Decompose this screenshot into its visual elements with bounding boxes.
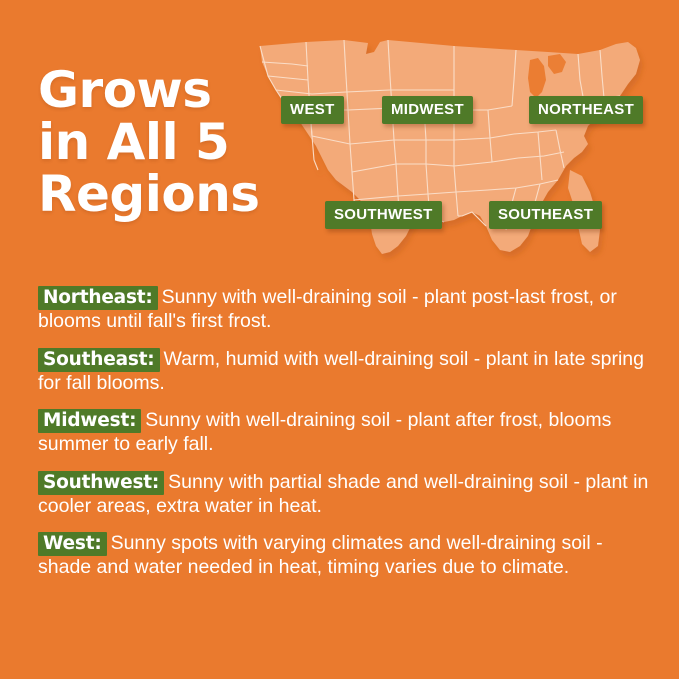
list-item: Northeast:Sunny with well-draining soil …: [38, 286, 650, 334]
list-item: Southwest:Sunny with partial shade and w…: [38, 471, 650, 519]
list-item: Midwest:Sunny with well-draining soil - …: [38, 409, 650, 457]
united-states-map: [248, 40, 648, 280]
page-title: Grows in All 5 Regions: [38, 64, 298, 220]
region-list: Northeast:Sunny with well-draining soil …: [38, 286, 650, 580]
map-badge-midwest[interactable]: MIDWEST: [382, 96, 473, 124]
map-badge-southwest[interactable]: SOUTHWEST: [325, 201, 442, 229]
region-name-northeast: Northeast:: [38, 286, 158, 310]
infographic-poster: Grows in All 5 Regions: [0, 0, 679, 679]
region-name-west: West:: [38, 532, 107, 556]
list-item: Southeast:Warm, humid with well-draining…: [38, 348, 650, 396]
region-description-west: Sunny spots with varying climates and we…: [38, 532, 603, 578]
map-badge-northeast[interactable]: NORTHEAST: [529, 96, 643, 124]
title-line-3: Regions: [38, 168, 298, 220]
map-badge-southeast[interactable]: SOUTHEAST: [489, 201, 602, 229]
map-badge-west[interactable]: WEST: [281, 96, 344, 124]
region-name-southeast: Southeast:: [38, 348, 160, 372]
region-name-midwest: Midwest:: [38, 409, 141, 433]
title-line-2: in All 5: [38, 116, 298, 168]
region-name-southwest: Southwest:: [38, 471, 164, 495]
title-line-1: Grows: [38, 64, 298, 116]
list-item: West:Sunny spots with varying climates a…: [38, 532, 650, 580]
